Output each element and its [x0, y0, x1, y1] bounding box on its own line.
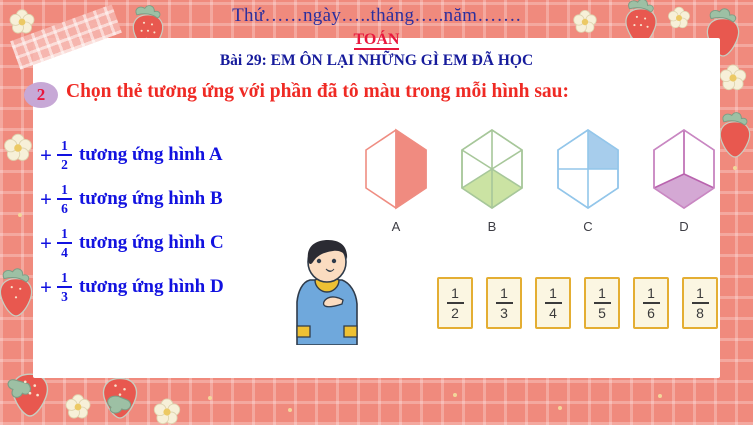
shape-cell-c[interactable]: C — [544, 128, 632, 234]
answer-row-b[interactable]: + 1 6 tương ứng hình B — [40, 177, 320, 221]
fraction-half: 1 2 — [57, 139, 72, 172]
fraction-sixth: 1 6 — [57, 183, 72, 216]
fraction-card-row: 1 2 1 3 1 4 1 5 — [437, 277, 718, 329]
fraction-numerator: 1 — [61, 271, 68, 286]
question-text: Chọn thẻ tương ứng với phần đã tô màu tr… — [66, 81, 569, 103]
fraction-card[interactable]: 1 8 — [682, 277, 718, 329]
plus-icon: + — [40, 143, 52, 168]
fraction-card[interactable]: 1 4 — [535, 277, 571, 329]
card-numerator: 1 — [598, 286, 606, 300]
fraction-denominator: 4 — [61, 245, 68, 260]
card-fraction-bar — [594, 302, 611, 304]
card-fraction: 1 4 — [545, 286, 562, 320]
fraction-denominator: 3 — [61, 289, 68, 304]
fraction-third: 1 3 — [57, 271, 72, 304]
shape-cell-b[interactable]: B — [448, 128, 536, 234]
card-fraction-bar — [545, 302, 562, 304]
fraction-quarter: 1 4 — [57, 227, 72, 260]
card-numerator: 1 — [500, 286, 508, 300]
card-fraction-bar — [447, 302, 464, 304]
fraction-bar — [57, 242, 72, 244]
answer-label-a: tương ứng hình A — [79, 144, 223, 166]
fraction-card[interactable]: 1 5 — [584, 277, 620, 329]
card-fraction-bar — [692, 302, 709, 304]
answer-label-c: tương ứng hình C — [79, 232, 224, 254]
answer-row-d[interactable]: + 1 3 tương ứng hình D — [40, 265, 320, 309]
card-numerator: 1 — [549, 286, 557, 300]
card-fraction: 1 3 — [496, 286, 513, 320]
fraction-denominator: 2 — [61, 157, 68, 172]
card-fraction-bar — [643, 302, 660, 304]
lesson-title: Bài 29: EM ÔN LẠI NHỮNG GÌ EM ĐÃ HỌC — [0, 52, 753, 70]
answer-label-b: tương ứng hình B — [79, 188, 223, 210]
shape-cell-d[interactable]: D — [640, 128, 728, 234]
slide-root: Thứ……ngày…..tháng…..năm……. TOÁN Bài 29: … — [0, 0, 753, 425]
card-denominator: 8 — [696, 306, 704, 320]
fraction-card[interactable]: 1 2 — [437, 277, 473, 329]
fraction-bar — [57, 286, 72, 288]
fraction-card[interactable]: 1 3 — [486, 277, 522, 329]
card-denominator: 3 — [500, 306, 508, 320]
card-fraction: 1 2 — [447, 286, 464, 320]
hexagon-quarters-shaded — [552, 128, 624, 210]
hexagon-sixths-shaded — [456, 128, 528, 210]
shape-cell-a[interactable]: A — [352, 128, 440, 234]
fraction-numerator: 1 — [61, 139, 68, 154]
card-denominator: 6 — [647, 306, 655, 320]
card-fraction: 1 8 — [692, 286, 709, 320]
card-numerator: 1 — [696, 286, 704, 300]
answer-row-c[interactable]: + 1 4 tương ứng hình C — [40, 221, 320, 265]
question-number-badge: 2 — [24, 82, 58, 108]
card-fraction-bar — [496, 302, 513, 304]
shape-label-b: B — [448, 219, 536, 234]
fraction-bar — [57, 154, 72, 156]
subject-title-text: TOÁN — [354, 31, 400, 50]
card-denominator: 4 — [549, 306, 557, 320]
boy-illustration — [288, 240, 366, 345]
card-numerator: 1 — [647, 286, 655, 300]
hexagon-half-shaded — [360, 128, 432, 210]
hexagon-thirds-shaded — [648, 128, 720, 210]
shape-label-d: D — [640, 219, 728, 234]
answer-row-a[interactable]: + 1 2 tương ứng hình A — [40, 133, 320, 177]
plus-icon: + — [40, 275, 52, 300]
shape-row: A B — [352, 128, 732, 243]
card-fraction: 1 6 — [643, 286, 660, 320]
plus-icon: + — [40, 187, 52, 212]
answer-label-d: tương ứng hình D — [79, 276, 224, 298]
card-fraction: 1 5 — [594, 286, 611, 320]
shape-label-c: C — [544, 219, 632, 234]
answer-list: + 1 2 tương ứng hình A + 1 6 tương ứng h… — [40, 133, 320, 309]
shape-label-a: A — [352, 219, 440, 234]
fraction-bar — [57, 198, 72, 200]
card-numerator: 1 — [451, 286, 459, 300]
card-denominator: 5 — [598, 306, 606, 320]
card-denominator: 2 — [451, 306, 459, 320]
plus-icon: + — [40, 231, 52, 256]
subject-title: TOÁN — [0, 31, 753, 49]
fraction-card[interactable]: 1 6 — [633, 277, 669, 329]
fraction-denominator: 6 — [61, 201, 68, 216]
fraction-numerator: 1 — [61, 227, 68, 242]
date-line: Thứ……ngày…..tháng…..năm……. — [0, 5, 753, 27]
fraction-numerator: 1 — [61, 183, 68, 198]
